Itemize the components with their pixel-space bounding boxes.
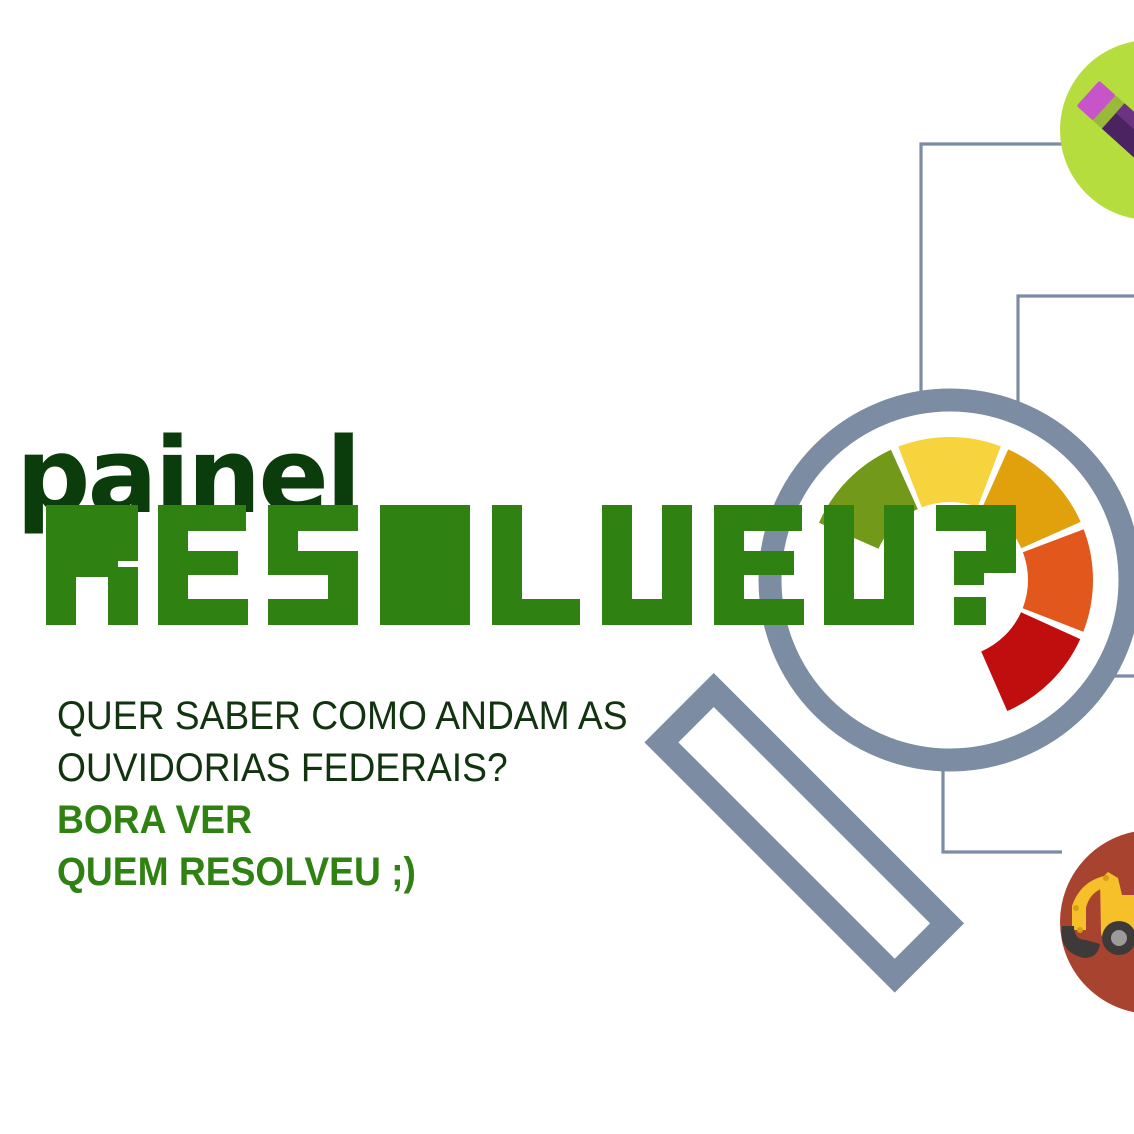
excavator-callout[interactable] bbox=[1060, 830, 1134, 1014]
tagline-block: QUER SABER COMO ANDAM AS OUVIDORIAS FEDE… bbox=[57, 690, 670, 898]
tagline-line-1: QUER SABER COMO ANDAM AS bbox=[57, 690, 628, 742]
poster-canvas: ResolvidoParcialmente resolvidoEm analis… bbox=[0, 0, 1134, 1134]
brand-title-resolveu: RESOLVEU? bbox=[46, 505, 1026, 625]
tagline-line-2: OUVIDORIAS FEDERAIS? bbox=[57, 742, 628, 794]
cta-line-2[interactable]: QUEM RESOLVEU ;) bbox=[57, 846, 628, 898]
cta-line-1[interactable]: BORA VER bbox=[57, 794, 628, 846]
pencil-callout[interactable] bbox=[1060, 40, 1134, 220]
